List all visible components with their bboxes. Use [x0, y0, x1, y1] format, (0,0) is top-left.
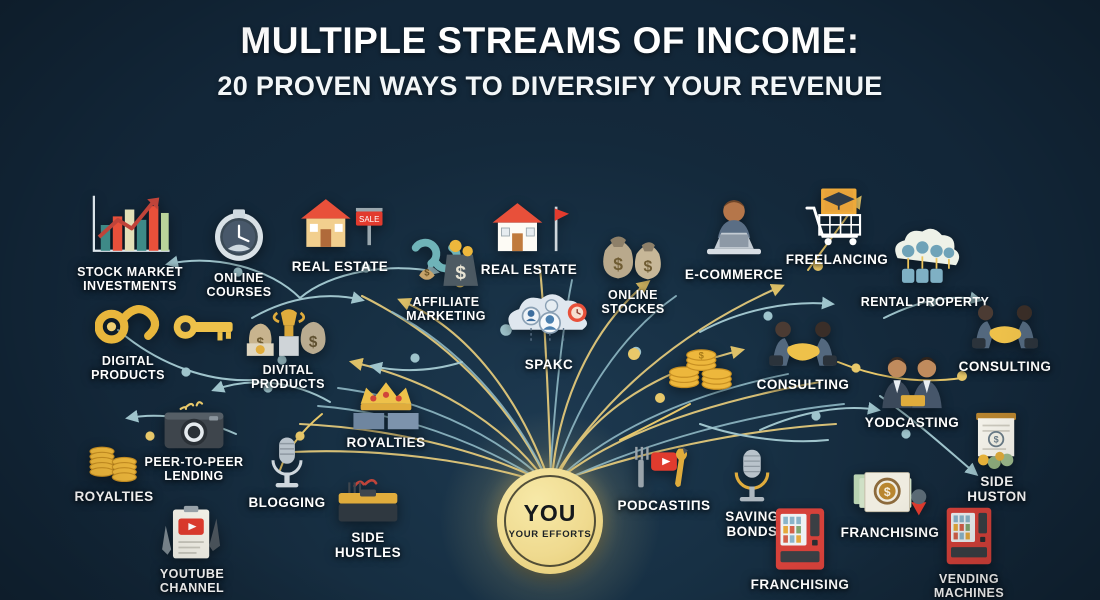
- hub-secondary-label: YOUR EFFORTS: [509, 529, 592, 540]
- income-stream-gold-key[interactable]: [129, 310, 279, 344]
- svg-text:$: $: [613, 254, 623, 274]
- income-stream-franchising-vending[interactable]: FRANCHISING: [725, 506, 875, 592]
- person-laptop-icon: [698, 198, 770, 262]
- income-stream-label: SPAKC: [525, 357, 574, 372]
- income-stream-label: E-COMMERCE: [685, 267, 783, 282]
- svg-text:$: $: [884, 485, 891, 499]
- bar-chart-growth-icon: [87, 190, 173, 260]
- income-stream-label: CONSULTING: [757, 377, 850, 392]
- certificate-icon: $: [967, 411, 1027, 469]
- income-stream-spakc[interactable]: SPAKC: [474, 292, 624, 372]
- page-title: MULTIPLE STREAMS OF INCOME:: [0, 22, 1100, 61]
- studio-mic-icon: [729, 448, 775, 504]
- two-people-briefcase-icon: [873, 356, 951, 410]
- income-stream-side-hustles[interactable]: SIDE HUSTLES: [293, 477, 443, 560]
- cloud-network-icon: [884, 228, 966, 290]
- income-stream-label: ONLINE COURSES: [207, 271, 272, 299]
- income-stream-youtube-channel[interactable]: YOUTUBE CHANNEL: [117, 504, 267, 595]
- crown-book-icon: [348, 376, 424, 430]
- income-stream-label: SIDE HUSTON: [967, 474, 1026, 504]
- toolbox-icon: [335, 477, 401, 525]
- page-subtitle: 20 PROVEN WAYS TO DIVERSIFY YOUR REVENUE: [0, 71, 1100, 102]
- svg-text:$: $: [424, 267, 430, 278]
- svg-text:$: $: [643, 259, 652, 276]
- income-stream-vending-machines[interactable]: VENDING MACHINES: [894, 505, 1044, 600]
- hub-you[interactable]: YOU YOUR EFFORTS: [497, 468, 603, 574]
- money-bags-icon: $ $: [598, 225, 668, 283]
- cloud-people-icon: [502, 292, 596, 352]
- income-stream-label: VENDING MACHINES: [934, 572, 1004, 600]
- hub-primary-label: YOU: [524, 502, 577, 525]
- infographic-canvas: MULTIPLE STREAMS OF INCOME: 20 PROVEN WA…: [0, 0, 1100, 600]
- income-stream-label: DIGITAL PRODUCTS: [91, 354, 165, 382]
- youtube-clipboard-icon: [159, 504, 225, 562]
- vending-machine-icon: [774, 506, 826, 572]
- income-stream-label: SIDE HUSTLES: [335, 530, 401, 560]
- clock-icon: [209, 206, 269, 266]
- svg-text:$: $: [309, 334, 318, 351]
- gold-key-icon: [172, 310, 236, 344]
- svg-text:$: $: [699, 349, 705, 360]
- house-flag-icon: [489, 199, 569, 257]
- header: MULTIPLE STREAMS OF INCOME: 20 PROVEN WA…: [0, 22, 1100, 102]
- income-stream-label: ROYALTIES: [74, 489, 153, 504]
- handshake-icon: [967, 302, 1043, 354]
- income-stream-label: YOUTUBE CHANNEL: [160, 567, 224, 595]
- income-stream-rental-property[interactable]: RENTAL PROPERTY: [850, 228, 1000, 309]
- svg-text:$: $: [994, 435, 999, 445]
- svg-text:SALE: SALE: [359, 215, 379, 224]
- vending-machine-icon: [945, 505, 993, 567]
- handshake-icon: [764, 318, 842, 372]
- income-stream-label: FRANCHISING: [751, 577, 850, 592]
